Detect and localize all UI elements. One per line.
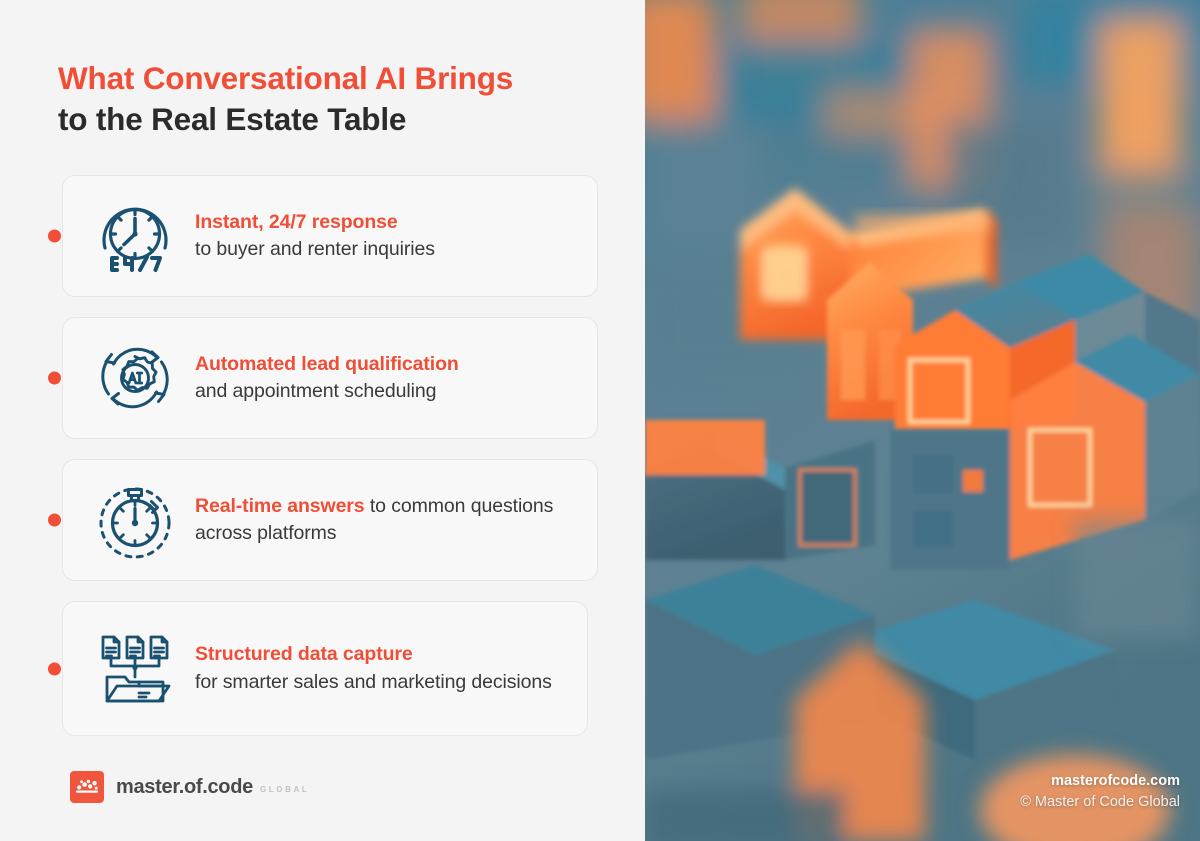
gauge-clock-247-icon xyxy=(89,190,181,282)
benefit-rest: for smarter sales and marketing decision… xyxy=(195,671,552,693)
page-title: What Conversational AI Brings to the Rea… xyxy=(58,58,618,139)
infographic-page: What Conversational AI Brings to the Rea… xyxy=(0,0,1200,841)
credit-copyright: © Master of Code Global xyxy=(1020,792,1180,813)
bullet-dot-icon xyxy=(48,662,61,675)
benefit-card-text: Automated lead qualification and appoint… xyxy=(195,351,459,406)
benefit-card-text: Real-time answers to common questions ac… xyxy=(195,493,575,548)
stopwatch-dashed-icon xyxy=(89,474,181,566)
hero-image-panel: masterofcode.com © Master of Code Global xyxy=(645,0,1200,841)
benefit-rest: to buyer and renter inquiries xyxy=(195,238,435,260)
logo-wordmark: master.of.code xyxy=(116,776,253,799)
benefit-card-list: Instant, 24/7 response to buyer and rent… xyxy=(0,175,645,736)
bullet-dot-icon xyxy=(48,514,61,527)
benefit-rest: and appointment scheduling xyxy=(195,380,436,402)
image-credit: masterofcode.com © Master of Code Global xyxy=(1020,771,1180,813)
benefit-card-text: Instant, 24/7 response to buyer and rent… xyxy=(195,209,435,264)
ai-gear-cycle-icon xyxy=(89,332,181,424)
benefit-card-lead-qualification[interactable]: Automated lead qualification and appoint… xyxy=(62,317,598,439)
dots-cluster-icon xyxy=(70,771,104,803)
benefit-card-realtime-answers[interactable]: Real-time answers to common questions ac… xyxy=(62,459,598,581)
benefit-highlight: Real-time answers xyxy=(195,495,365,517)
logo-global-text: GLOBAL xyxy=(260,785,309,794)
left-content-panel: What Conversational AI Brings to the Rea… xyxy=(0,0,645,841)
benefit-highlight: Instant, 24/7 response xyxy=(195,211,398,233)
title-line-2: to the Real Estate Table xyxy=(58,99,618,140)
benefit-card-instant-response[interactable]: Instant, 24/7 response to buyer and rent… xyxy=(62,175,598,297)
documents-to-folder-icon xyxy=(89,623,181,715)
bullet-dot-icon xyxy=(48,230,61,243)
benefit-highlight: Automated lead qualification xyxy=(195,353,459,375)
credit-site: masterofcode.com xyxy=(1020,771,1180,792)
footer-logo[interactable]: master.of.code GLOBAL xyxy=(70,771,309,803)
title-line-1: What Conversational AI Brings xyxy=(58,58,618,99)
benefit-card-structured-data[interactable]: Structured data capture for smarter sale… xyxy=(62,601,588,736)
benefit-card-text: Structured data capture for smarter sale… xyxy=(195,641,552,696)
isometric-houses-render xyxy=(645,0,1200,841)
bullet-dot-icon xyxy=(48,372,61,385)
benefit-highlight: Structured data capture xyxy=(195,643,413,665)
